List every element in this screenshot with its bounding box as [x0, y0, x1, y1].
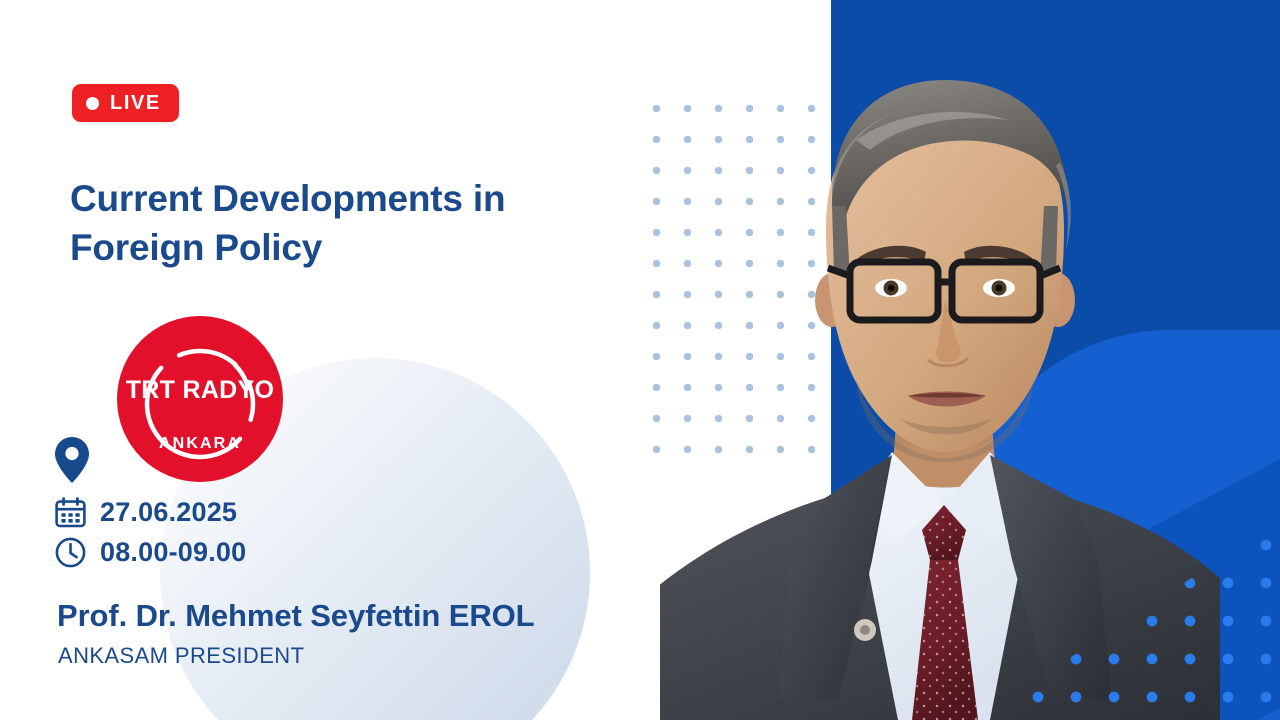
- trt-radyo-logo: TRT RADYO ANKARA: [117, 316, 283, 482]
- live-badge[interactable]: LIVE: [72, 84, 179, 122]
- speaker-role: ANKASAM PRESIDENT: [58, 645, 304, 667]
- page-title: Current Developments in Foreign Policy: [70, 175, 615, 273]
- record-dot-icon: [86, 97, 99, 110]
- content-area: LIVE Current Developments in Foreign Pol…: [0, 0, 660, 720]
- event-date: 27.06.2025: [100, 499, 237, 526]
- logo-brand-text: TRT RADYO: [117, 378, 283, 403]
- logo-city-text: ANKARA: [117, 436, 283, 452]
- speaker-portrait: [660, 0, 1220, 720]
- promo-card: LIVE Current Developments in Foreign Pol…: [0, 0, 1280, 720]
- speaker-name: Prof. Dr. Mehmet Seyfettin EROL: [57, 600, 534, 631]
- time-row: 08.00-09.00: [55, 537, 246, 568]
- live-badge-label: LIVE: [110, 93, 161, 113]
- clock-icon: [55, 537, 86, 568]
- location-pin-icon: [55, 437, 89, 483]
- date-row: 27.06.2025: [55, 497, 237, 528]
- calendar-icon: [55, 497, 86, 528]
- event-time: 08.00-09.00: [100, 539, 246, 566]
